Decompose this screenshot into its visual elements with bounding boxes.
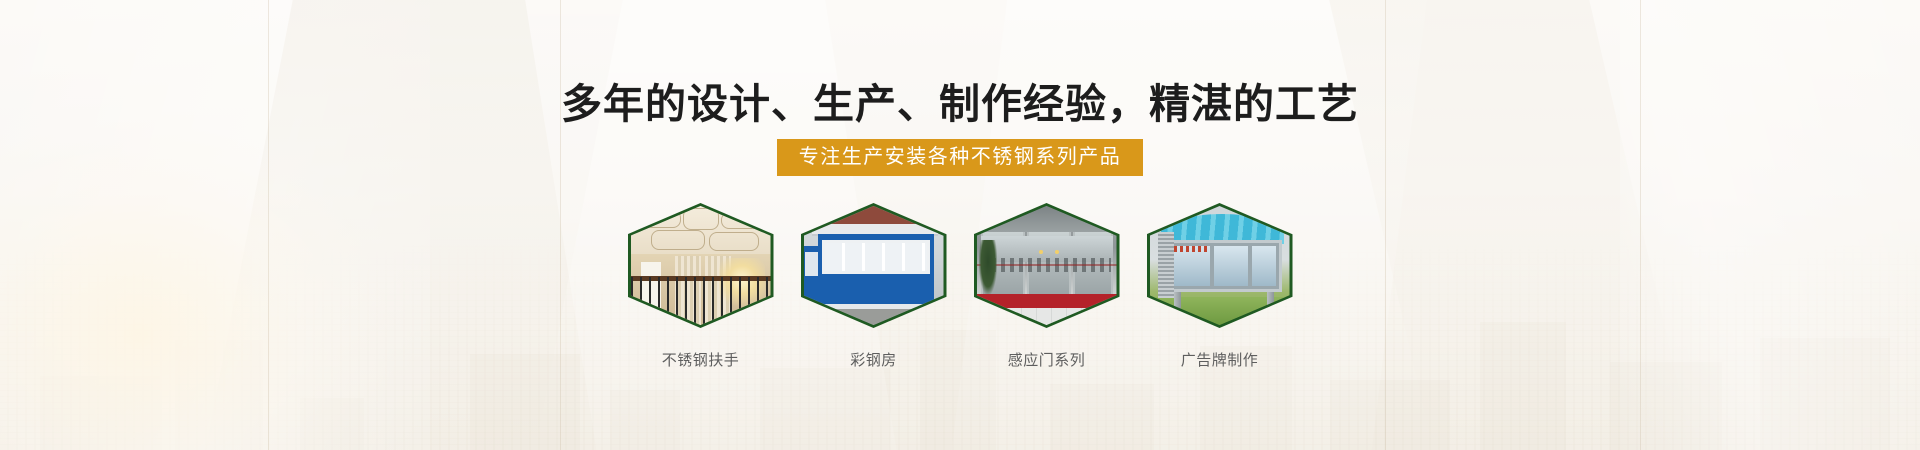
product-label: 不锈钢扶手	[662, 349, 740, 370]
product-item-sensor-door[interactable]: 感应门系列	[974, 203, 1120, 370]
product-label: 感应门系列	[1008, 349, 1086, 370]
stainless-steel-handrail-photo	[631, 206, 771, 325]
product-item-handrail[interactable]: 不锈钢扶手	[628, 203, 774, 370]
hexagon-frame	[1147, 203, 1293, 328]
banner-headline: 多年的设计、生产、制作经验，精湛的工艺	[0, 82, 1920, 127]
color-steel-prefab-house-photo	[804, 206, 944, 325]
product-item-prefab-house[interactable]: 彩钢房	[801, 203, 947, 370]
hexagon-frame	[628, 203, 774, 328]
hexagon-frame	[801, 203, 947, 328]
product-label: 广告牌制作	[1181, 349, 1259, 370]
banner-subtitle-badge: 专注生产安装各种不锈钢系列产品	[777, 139, 1144, 176]
automatic-sensor-door-photo	[977, 206, 1117, 325]
banner-subtitle-wrap: 专注生产安装各种不锈钢系列产品	[0, 139, 1920, 176]
hexagon-frame	[974, 203, 1120, 328]
product-item-billboard[interactable]: 广告牌制作	[1147, 203, 1293, 370]
billboard-fabrication-photo	[1150, 206, 1290, 325]
product-hexagon-row: 不锈钢扶手 彩钢房	[0, 203, 1920, 370]
promo-banner: 多年的设计、生产、制作经验，精湛的工艺 专注生产安装各种不锈钢系列产品	[0, 0, 1920, 450]
product-label: 彩钢房	[850, 349, 897, 370]
